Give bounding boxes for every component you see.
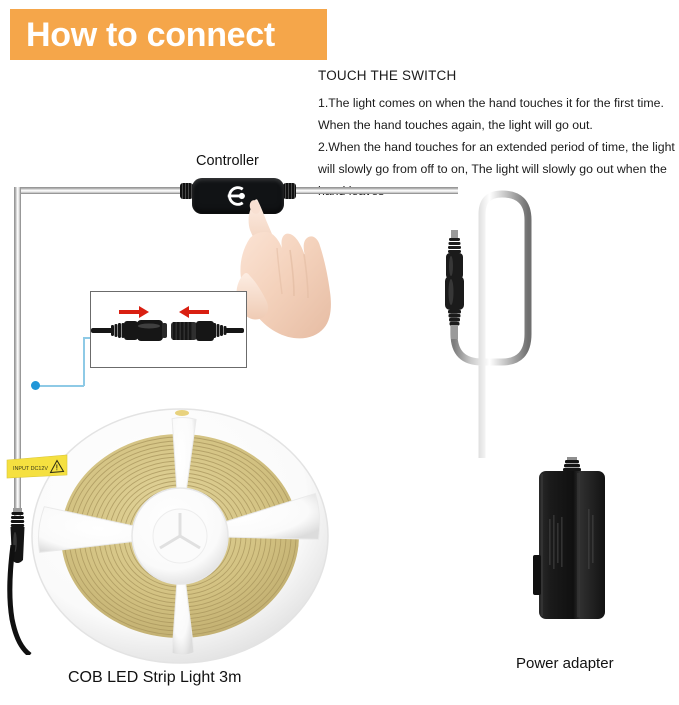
input-voltage-tag: INPUT DC12V: [5, 452, 68, 482]
instruction-line: 2.When the hand touches for an extended …: [318, 136, 679, 158]
inline-barrel-connector: [440, 230, 472, 350]
cob-led-strip-reel: [30, 407, 330, 665]
adapter-label: Power adapter: [516, 655, 614, 672]
instruction-line: When the hand touches again, the light w…: [318, 114, 679, 136]
connector-detail-illustration: [91, 292, 244, 365]
pointing-hand: [232, 196, 350, 346]
page-title: How to connect: [26, 13, 326, 57]
instruction-line: 1.The light comes on when the hand touch…: [318, 92, 679, 114]
instructions-title: TOUCH THE SWITCH: [318, 68, 679, 83]
power-adapter: [533, 457, 611, 635]
red-arrows: [119, 306, 209, 318]
callout-anchor-dot: [31, 381, 40, 390]
instruction-line: will slowly go from off to on, The light…: [318, 158, 679, 180]
cable-segment-top-left: [14, 187, 196, 194]
reel-label: COB LED Strip Light 3m: [68, 669, 241, 687]
callout-leader-horizontal-bottom: [36, 385, 84, 387]
cable-segment-controller-right: [284, 187, 458, 194]
instructions-block: TOUCH THE SWITCH 1.The light comes on wh…: [318, 68, 679, 202]
tag-text: INPUT DC12V: [13, 466, 48, 472]
callout-leader-vertical: [83, 337, 85, 386]
controller-label: Controller: [196, 153, 259, 169]
